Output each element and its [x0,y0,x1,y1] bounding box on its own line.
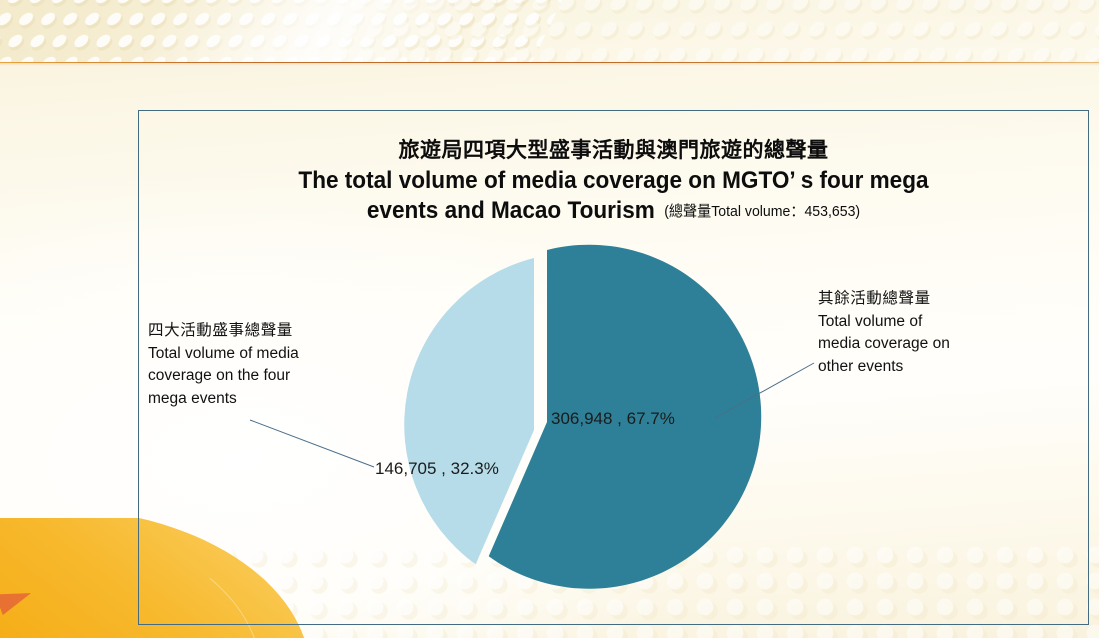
callout-other-events: 其餘活動總聲量 Total volume of media coverage o… [818,288,1028,378]
header-divider-shadow [0,63,1099,66]
callout-left-english-line2: coverage on the four [148,365,358,388]
slide-canvas: 旅遊局四項大型盛事活動與澳門旅遊的總聲量 The total volume of… [0,0,1099,638]
callout-right-english-line2: media coverage on [818,333,1028,356]
slice-data-label-other-events: 306,948 , 67.7% [551,409,675,429]
header-diagonal-highlight [113,0,486,63]
callout-left-english-line1: Total volume of media [148,343,358,366]
callout-four-mega-events: 四大活動盛事總聲量 Total volume of media coverage… [148,320,358,410]
decorative-header-band [0,0,1099,63]
callout-right-chinese: 其餘活動總聲量 [818,288,1028,311]
slice-data-label-four-mega-events: 146,705 , 32.3% [375,459,499,479]
leader-line-left [250,420,374,467]
callout-left-chinese: 四大活動盛事總聲量 [148,320,358,343]
callout-left-english-line3: mega events [148,388,358,411]
swoosh-arrow-icon [0,583,35,615]
callout-right-english-line1: Total volume of [818,311,1028,334]
callout-right-english-line3: other events [818,356,1028,379]
